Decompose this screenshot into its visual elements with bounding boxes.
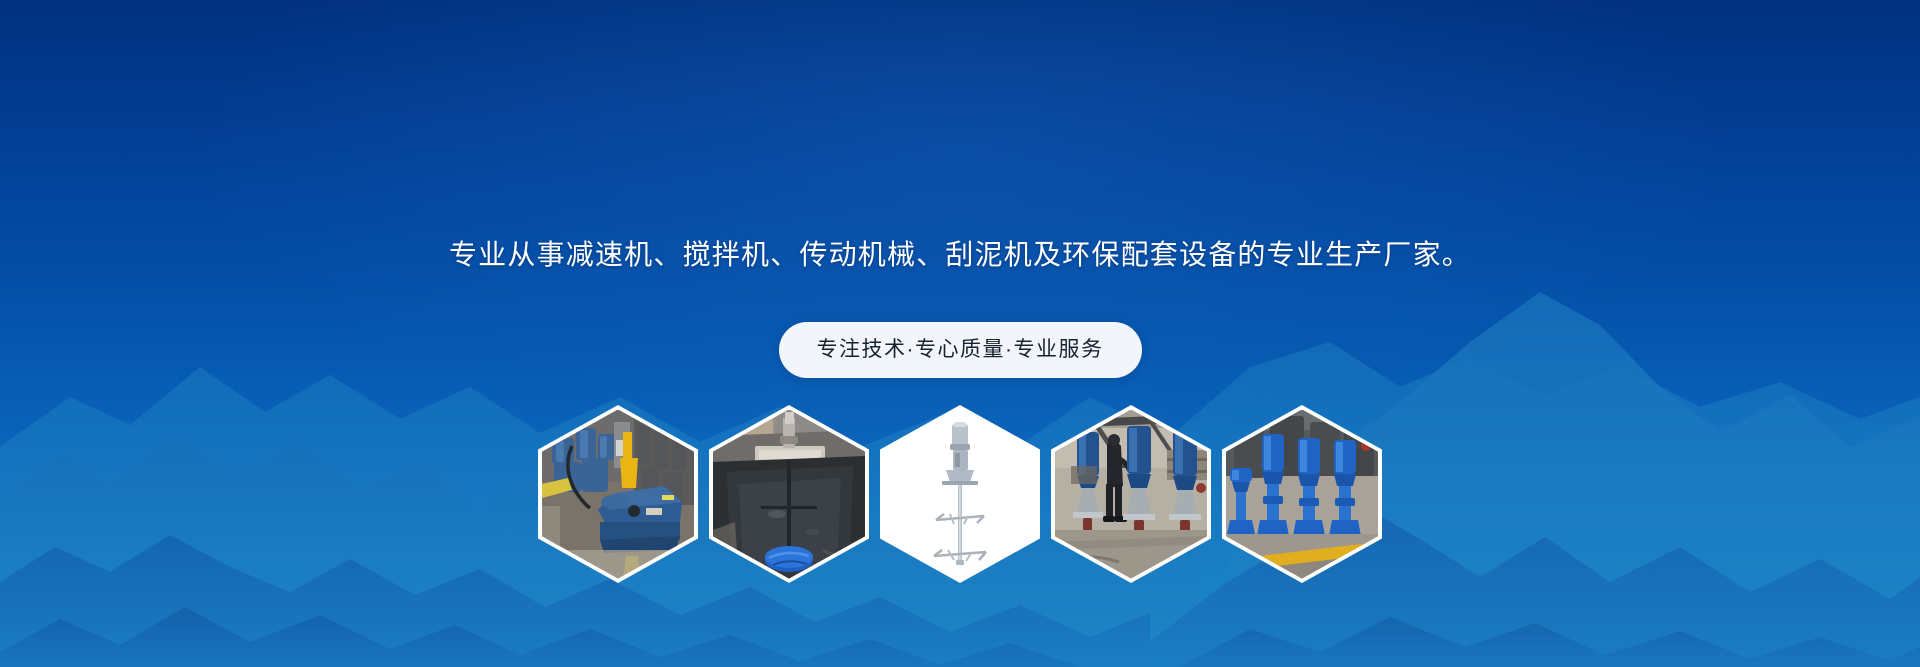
hex-photo-factory-mixers[interactable] bbox=[1051, 405, 1211, 583]
factory-mixers-photo bbox=[1055, 410, 1207, 579]
hero-headline: 专业从事减速机、搅拌机、传动机械、刮泥机及环保配套设备的专业生产厂家。 bbox=[449, 238, 1471, 272]
hero-badge-container: 专注技术·专心质量·专业服务 bbox=[0, 322, 1920, 378]
mixer-product-photo bbox=[884, 410, 1036, 579]
gearbox-reducer-photo bbox=[542, 410, 694, 579]
hexagon-gallery bbox=[0, 405, 1920, 583]
hex-photo-mixer-product[interactable] bbox=[880, 405, 1040, 583]
mixer-in-tank-photo bbox=[713, 410, 865, 579]
hex-photo-mixer-row-outdoor[interactable] bbox=[1222, 405, 1382, 583]
hero-banner: 专业从事减速机、搅拌机、传动机械、刮泥机及环保配套设备的专业生产厂家。 专注技术… bbox=[0, 0, 1920, 667]
mixer-row-outdoor-photo bbox=[1226, 410, 1378, 579]
hex-photo-gearbox-reducer[interactable] bbox=[538, 405, 698, 583]
hero-headline-container: 专业从事减速机、搅拌机、传动机械、刮泥机及环保配套设备的专业生产厂家。 bbox=[0, 238, 1920, 272]
hex-photo-mixer-in-tank[interactable] bbox=[709, 405, 869, 583]
hero-slogan-badge: 专注技术·专心质量·专业服务 bbox=[779, 322, 1142, 378]
